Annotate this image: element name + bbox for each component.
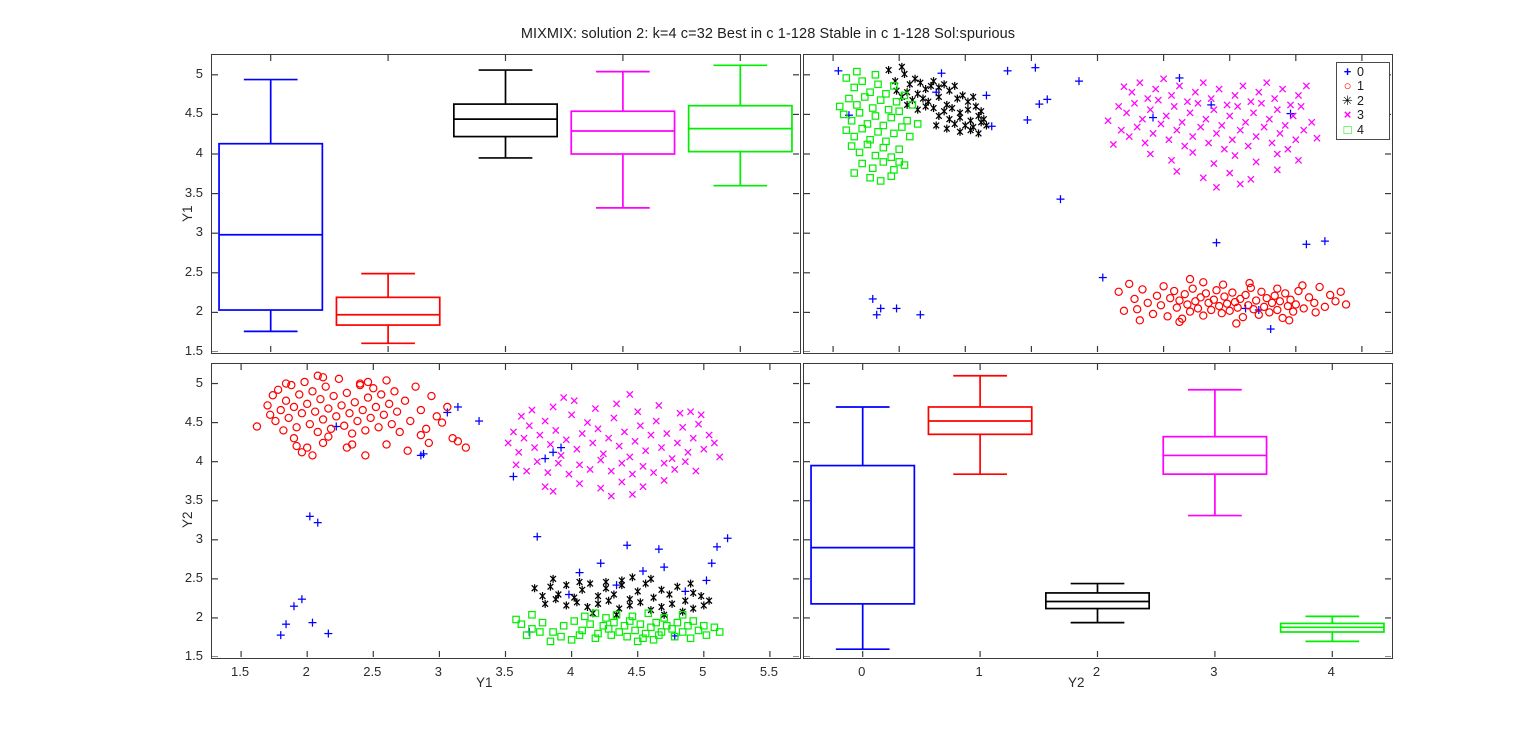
marker-square [872,113,878,119]
y-tick-label: 3 [159,224,203,239]
marker-cross [1211,107,1217,113]
marker-star [917,79,923,87]
marker-circle [1258,288,1265,295]
panel-bottom-right-boxplot[interactable] [803,363,1393,659]
marker-circle [354,417,361,424]
marker-cross [1303,83,1309,89]
marker-circle [293,442,300,449]
marker-circle [433,413,440,420]
marker-cross [672,466,678,472]
marker-cross [698,412,704,418]
marker-circle [298,410,305,417]
marker-circle [341,422,348,429]
marker-circle [1242,291,1249,298]
marker-square [877,178,883,184]
marker-cross [674,440,680,446]
marker-cross [542,484,548,490]
marker-star [976,112,982,120]
marker-cross [1253,159,1259,165]
marker-circle [372,403,379,410]
marker-cross [606,435,612,441]
marker-cross [1110,141,1116,147]
marker-square [888,114,894,120]
marker-circle [1247,284,1254,291]
marker-cross [1269,140,1275,146]
marker-star [907,80,913,88]
marker-circle [314,428,321,435]
marker-star [659,586,665,594]
marker-cross [584,419,590,425]
marker-cross [608,493,614,499]
marker-plus [290,602,298,610]
marker-square [537,629,543,635]
x-tick-label: 0 [837,664,887,679]
marker-cross [1258,100,1264,106]
marker-cross [1163,113,1169,119]
boxplot-box [454,70,557,158]
marker-square [616,629,622,635]
marker-plus [873,311,881,319]
marker-cross [531,444,537,450]
marker-plus [1035,100,1043,108]
marker-circle [1184,301,1191,308]
bottom-right-plot-area [804,364,1391,657]
marker-cross [1285,146,1291,152]
marker-square [877,97,883,103]
legend-item-4[interactable]: □4 [1340,123,1385,137]
marker-cross [1190,133,1196,139]
top-left-plot-area [212,55,799,352]
marker-circle [1194,305,1201,312]
marker-square [854,68,860,74]
marker-circle [1186,276,1193,283]
marker-cross [1245,143,1251,149]
marker-star [933,121,939,129]
y-tick-label: 5 [159,375,203,390]
marker-plus [533,533,541,541]
x-tick-label: 2.5 [347,664,397,679]
marker-star [595,592,601,600]
marker-square [880,144,886,150]
marker-circle [327,425,334,432]
marker-star [899,63,905,71]
marker-cross [1168,92,1174,98]
y-tick-label: 2 [159,609,203,624]
marker-cross [1232,92,1238,98]
marker-circle [1144,299,1151,306]
marker-plus [1267,325,1275,333]
marker-star [931,104,937,112]
marker-cross [701,446,707,452]
panel-top-right-scatter[interactable] [803,54,1393,354]
marker-circle [1216,302,1223,309]
marker-square [875,81,881,87]
marker-square [624,633,630,639]
marker-star [619,576,625,584]
marker-circle [1200,279,1207,286]
marker-circle [438,419,445,426]
marker-circle [309,388,316,395]
marker-circle [378,391,385,398]
marker-cross [574,446,580,452]
marker-cross [1200,80,1206,86]
marker-plus [982,91,990,99]
marker-circle [1131,295,1138,302]
marker-cross [1195,100,1201,106]
circle-icon: ○ [1340,79,1355,93]
marker-cross [1216,86,1222,92]
marker-cross [1261,124,1267,130]
marker-cross [1174,168,1180,174]
marker-circle [277,406,284,413]
marker-star [651,594,657,602]
x-tick-label: 4 [546,664,596,679]
marker-star [563,581,569,589]
boxplot-box [811,407,914,649]
marker-star [936,93,942,101]
legend-item-1[interactable]: ○1 [1340,79,1385,93]
marker-cross [1250,110,1256,116]
marker-circle [1316,283,1323,290]
marker-cross [1213,130,1219,136]
legend-item-label: 4 [1355,123,1364,137]
marker-plus [1302,240,1310,248]
marker-cross [1168,157,1174,163]
marker-cross [1272,95,1278,101]
marker-square [558,633,564,639]
marker-cross [677,410,683,416]
marker-circle [383,441,390,448]
marker-square [888,173,894,179]
marker-circle [1311,299,1318,306]
legend-item-2[interactable]: ✳2 [1340,94,1385,108]
marker-circle [370,385,377,392]
marker-cross [555,460,561,466]
marker-cross [1131,100,1137,106]
marker-star [682,597,688,605]
marker-star [643,580,649,588]
marker-star [976,129,982,137]
marker-plus [1075,77,1083,85]
marker-star [563,601,569,609]
marker-square [571,618,577,624]
x-tick-label: 4 [1306,664,1356,679]
marker-cross [1142,140,1148,146]
marker-circle [1327,291,1334,298]
marker-circle [280,427,287,434]
marker-cross [1158,121,1164,127]
marker-plus [937,69,945,77]
marker-circle [1312,309,1319,316]
marker-star [947,87,953,95]
marker-plus [893,304,901,312]
marker-star [706,597,712,605]
marker-circle [301,378,308,385]
marker-plus [509,473,517,481]
marker-cross [595,426,601,432]
marker-cross [1129,89,1135,95]
marker-circle [364,394,371,401]
marker-square [529,612,535,618]
marker-plus [1212,239,1220,247]
marker-star [960,91,966,99]
marker-square [896,146,902,152]
marker-cross [1277,130,1283,136]
marker-circle [412,383,419,390]
marker-circle [1218,310,1225,317]
marker-circle [367,414,374,421]
marker-circle [425,439,432,446]
marker-star [978,118,984,126]
marker-square [608,632,614,638]
marker-cross [1134,124,1140,130]
marker-cross [1187,110,1193,116]
marker-cross [1266,116,1272,122]
marker-plus [660,563,668,571]
marker-cross [516,449,522,455]
marker-star [540,592,546,600]
marker-circle [293,424,300,431]
marker-plus [314,519,322,527]
marker-square [899,124,905,130]
marker-cross [542,418,548,424]
y-tick-label: 2.5 [159,264,203,279]
marker-circle [1342,301,1349,308]
marker-star [690,605,696,613]
marker-cross [1200,175,1206,181]
marker-circle [1332,298,1339,305]
marker-square [859,160,865,166]
marker-circle [362,427,369,434]
marker-plus [877,304,885,312]
marker-circle [1167,295,1174,302]
marker-cross [637,423,643,429]
marker-cross [1301,127,1307,133]
marker-circle [325,405,332,412]
marker-plus [306,512,314,520]
marker-square [867,175,873,181]
marker-square [560,623,566,629]
marker-cross [650,469,656,475]
panel-bottom-left-scatter[interactable] [211,363,801,659]
marker-star [973,102,979,110]
marker-cross [1176,83,1182,89]
marker-cross [1256,89,1262,95]
marker-cross [598,485,604,491]
marker-cross [1237,181,1243,187]
marker-cross [590,440,596,446]
marker-star [698,592,704,600]
marker-cross [640,484,646,490]
marker-star [585,603,591,611]
boxplot-box [928,376,1031,474]
marker-square [703,632,709,638]
marker-cross [706,432,712,438]
marker-cross [1219,122,1225,128]
marker-circle [407,417,414,424]
marker-cross [1160,76,1166,82]
marker-circle [282,397,289,404]
marker-cross [613,401,619,407]
marker-circle [1208,306,1215,313]
marker-square [891,167,897,173]
marker-square [547,638,553,644]
marker-cross [529,407,535,413]
marker-star [954,95,960,103]
marker-cross [643,448,649,454]
marker-circle [1210,296,1217,303]
figure-canvas: MIXMIX: solution 2: k=4 c=32 Best in c 1… [0,0,1536,744]
marker-cross [537,432,543,438]
panel-top-left-boxplot[interactable] [211,54,801,354]
marker-cross [1105,118,1111,124]
marker-cross [1287,102,1293,108]
marker-star [952,82,958,90]
marker-circle [1290,308,1297,315]
marker-circle [264,402,271,409]
marker-circle [404,447,411,454]
marker-cross [1171,103,1177,109]
marker-star [941,80,947,88]
marker-plus [708,559,716,567]
marker-cross [547,441,553,447]
marker-circle [330,392,337,399]
marker-cross [1121,84,1127,90]
marker-cross [1298,103,1304,109]
marker-circle [1200,312,1207,319]
marker-plus [1004,67,1012,75]
marker-star [936,112,942,120]
marker-square [859,78,865,84]
marker-circle [1223,300,1230,307]
legend[interactable]: +0○1✳2×3□4 [1336,62,1390,140]
marker-plus [1043,95,1051,103]
marker-circle [362,452,369,459]
legend-item-label: 0 [1355,65,1364,79]
marker-cross [1274,167,1280,173]
marker-circle [1221,293,1228,300]
marker-cross [518,413,524,419]
y-tick-label: 4.5 [159,105,203,120]
marker-square [883,138,889,144]
top-right-plot-area [804,55,1391,352]
marker-circle [393,408,400,415]
y-tick-label: 5 [159,66,203,81]
marker-circle [317,396,324,403]
x-tick-label: 5 [678,664,728,679]
marker-square [632,627,638,633]
marker-plus [1031,64,1039,72]
marker-square [843,127,849,133]
marker-star [550,575,556,583]
marker-square [674,619,680,625]
marker-circle [1300,305,1307,312]
marker-star [603,578,609,586]
marker-circle [275,386,282,393]
legend-item-3[interactable]: ×3 [1340,108,1385,122]
marker-circle [333,413,340,420]
marker-star [690,589,696,597]
marker-plus [282,620,290,628]
marker-cross [1253,133,1259,139]
marker-cross [648,432,654,438]
marker-cross [576,480,582,486]
marker-plus [557,444,565,452]
legend-item-0[interactable]: +0 [1340,65,1385,79]
marker-square [870,105,876,111]
marker-star [952,120,958,128]
marker-circle [1292,301,1299,308]
marker-circle [309,452,316,459]
marker-circle [290,403,297,410]
marker-plus [298,595,306,603]
marker-cross [1274,151,1280,157]
marker-circle [1149,310,1156,317]
x-tick-label: 5.5 [744,664,794,679]
marker-circle [423,425,430,432]
marker-plus [655,545,663,553]
marker-circle [253,423,260,430]
marker-circle [401,397,408,404]
marker-cross [619,479,625,485]
marker-cross [1182,143,1188,149]
marker-circle [343,389,350,396]
marker-circle [1274,306,1281,313]
marker-square [914,121,920,127]
marker-cross [558,452,564,458]
marker-circle [1186,308,1193,315]
marker-circle [1299,282,1306,289]
marker-circle [386,400,393,407]
marker-cross [1153,86,1159,92]
marker-square [539,619,545,625]
marker-circle [325,433,332,440]
marker-star [669,600,675,608]
star-icon: ✳ [1340,94,1355,108]
marker-cross [1213,184,1219,190]
x-tick-label: 3 [413,664,463,679]
marker-cross [600,451,606,457]
axis-title-y2-bottom: Y2 [1068,675,1085,690]
marker-star [587,580,593,588]
marker-square [854,102,860,108]
y-tick-label: 3.5 [159,185,203,200]
marker-square [846,95,852,101]
marker-cross [685,449,691,455]
marker-cross [545,469,551,475]
marker-star [965,106,971,114]
marker-star [542,600,548,608]
marker-circle [1282,290,1289,297]
marker-cross [1166,137,1172,143]
axis-title-y1-top: Y1 [180,205,195,222]
marker-circle [1134,306,1141,313]
marker-cross [1145,95,1151,101]
marker-star [915,90,921,98]
marker-star [579,586,585,594]
marker-square [883,91,889,97]
marker-square [885,106,891,112]
marker-plus [549,448,557,456]
marker-square [679,629,685,635]
marker-plus [1175,74,1183,82]
marker-circle [338,402,345,409]
marker-cross [629,491,635,497]
marker-cross [1295,92,1301,98]
marker-circle [1171,287,1178,294]
marker-circle [1176,297,1183,304]
marker-circle [417,406,424,413]
